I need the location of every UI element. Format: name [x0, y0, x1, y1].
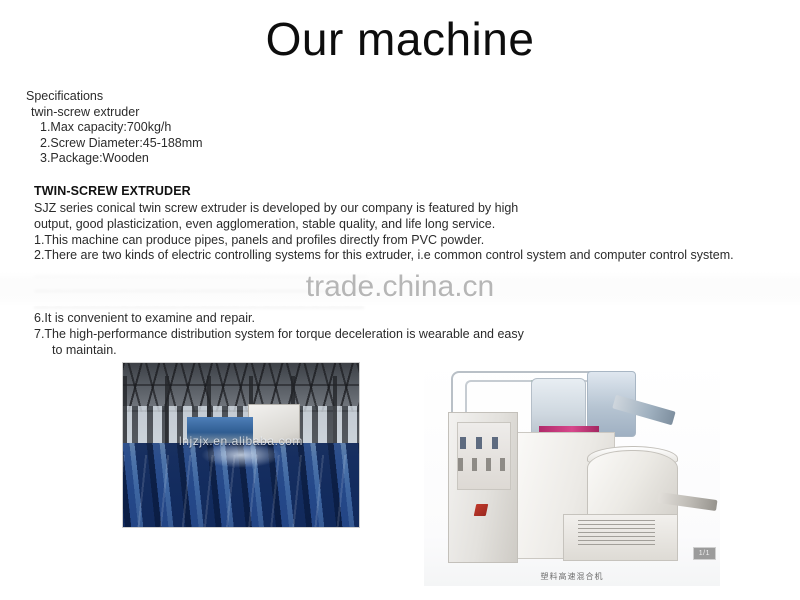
- photo-right-brand-logo: [473, 504, 488, 516]
- watermark-smear-overlay: [0, 272, 800, 306]
- extruder-intro-line-1: SJZ series conical twin screw extruder i…: [34, 201, 779, 217]
- photo-high-speed-mixer: 1/1 塑料高速混合机: [424, 360, 720, 586]
- photo-right-control-cabinet: [448, 412, 518, 563]
- extruder-point-6: 6.It is convenient to examine and repair…: [34, 311, 779, 327]
- specification-item: 2.Screw Diameter:45-188mm: [26, 136, 203, 152]
- extruder-body-lower: 6.It is convenient to examine and repair…: [34, 311, 779, 358]
- photo-left-watermark: lnjzjx.en.alibaba.com: [123, 434, 359, 448]
- extruder-point-2: 2.There are two kinds of electric contro…: [34, 248, 779, 264]
- extruder-heading: TWIN-SCREW EXTRUDER: [34, 184, 191, 198]
- specifications-subheading: twin-screw extruder: [26, 105, 203, 121]
- photo-right-control-face: [457, 422, 511, 490]
- specifications-heading: Specifications: [26, 89, 203, 105]
- extruder-point-1: 1.This machine can produce pipes, panels…: [34, 233, 779, 249]
- extruder-point-7-continuation: to maintain.: [34, 343, 779, 359]
- photo-right-knobs: [458, 458, 507, 471]
- photo-right-meters: [460, 437, 502, 449]
- extruder-intro-line-2: output, good plasticization, even agglom…: [34, 217, 779, 233]
- obscured-text-band: ........................................…: [0, 266, 800, 312]
- obscured-text-line: ........................................…: [34, 266, 784, 282]
- photo-right-caption: 塑料高速混合机: [424, 571, 720, 582]
- extruder-body: SJZ series conical twin screw extruder i…: [34, 201, 779, 264]
- specification-item: 1.Max capacity:700kg/h: [26, 120, 203, 136]
- obscured-text-line: ........................................…: [34, 297, 784, 312]
- photo-right-mixing-drum: [587, 450, 678, 520]
- photo-factory-interior: lnjzjx.en.alibaba.com: [122, 362, 360, 528]
- specification-item: 3.Package:Wooden: [26, 151, 203, 167]
- specifications-block: Specifications twin-screw extruder 1.Max…: [26, 89, 203, 167]
- site-watermark: trade.china.cn: [0, 270, 800, 304]
- page-title: Our machine: [0, 12, 800, 67]
- photo-right-page-badge: 1/1: [693, 547, 716, 560]
- obscured-text-line: ........................................…: [34, 281, 784, 297]
- photo-right-base-louvers: [578, 520, 655, 547]
- extruder-point-7: 7.The high-performance distribution syst…: [34, 327, 779, 343]
